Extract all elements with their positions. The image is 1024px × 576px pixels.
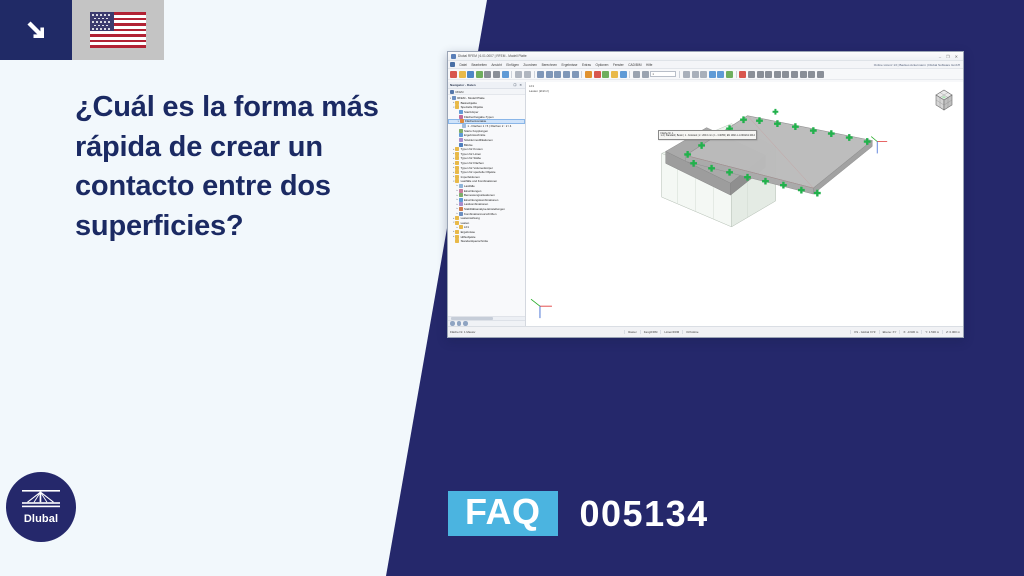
tool-misc-2[interactable] bbox=[692, 71, 699, 78]
tool-render-2[interactable] bbox=[642, 71, 649, 78]
tree-item-icon bbox=[459, 225, 463, 229]
corner-badges bbox=[0, 0, 164, 60]
app-icon bbox=[451, 54, 456, 59]
tree-item-label: Lasteinwirkung bbox=[461, 216, 480, 220]
tool-calc-5[interactable] bbox=[620, 71, 627, 78]
tree-item-icon bbox=[459, 110, 463, 114]
headline-text: ¿Cuál es la forma más rápida de crear un… bbox=[75, 88, 445, 247]
navigator-tree[interactable]: ▾RFEM - Modell Platte▸Basisobjekte▾Spezi… bbox=[448, 95, 525, 316]
menu-item-datei[interactable]: Datei bbox=[460, 63, 467, 67]
menu-item-berechnen[interactable]: Berechnen bbox=[542, 63, 557, 67]
dlubal-logo: Dlubal bbox=[6, 472, 76, 542]
tool-export[interactable] bbox=[502, 71, 509, 78]
tool-view-3[interactable] bbox=[554, 71, 561, 78]
tree-item-icon bbox=[459, 133, 463, 137]
tree-item-label: Spezielle Objekte bbox=[461, 105, 484, 109]
tool-undo[interactable] bbox=[515, 71, 522, 78]
tool-misc-7[interactable] bbox=[739, 71, 746, 78]
tree-item-label: Strukturmodifikationen bbox=[464, 138, 493, 142]
tree-item-label: Hilfsobjekte bbox=[461, 235, 476, 239]
flag-badge bbox=[72, 0, 164, 60]
tree-item-label: Lastkombinationen bbox=[464, 202, 488, 206]
tree-item-icon bbox=[452, 96, 456, 100]
view-cube-icon[interactable] bbox=[931, 87, 957, 113]
tree-item-icon bbox=[462, 124, 466, 128]
tree-item-icon bbox=[455, 170, 459, 174]
menu-item-ansicht[interactable]: Ansicht bbox=[491, 63, 501, 67]
tree-item-icon bbox=[455, 216, 459, 220]
tree-item-icon bbox=[455, 179, 459, 183]
toolbar-separator bbox=[679, 71, 680, 78]
tree-item-icon bbox=[459, 115, 463, 119]
tree-item-icon bbox=[459, 189, 463, 193]
arrow-badge bbox=[0, 0, 72, 60]
tree-item-icon bbox=[455, 101, 459, 105]
tool-misc-5[interactable] bbox=[717, 71, 724, 78]
status-selection-label: Fläche Nr. 1 Massiv bbox=[448, 330, 475, 334]
tree-item-label: Starre Kopplungen bbox=[464, 129, 488, 133]
tree-item-label: Ergebnisschnitte bbox=[464, 133, 485, 137]
tool-open[interactable] bbox=[459, 71, 466, 78]
app-menu-icon[interactable] bbox=[450, 62, 455, 67]
tree-item-label: Basisobjekte bbox=[461, 101, 477, 105]
status-toggle-linien[interactable]: Linien/FRM bbox=[660, 330, 682, 334]
toolbar-separator bbox=[736, 71, 737, 78]
model-viewport[interactable]: LF1 Lasten (kN/m²) bbox=[526, 82, 963, 326]
tool-view-4[interactable] bbox=[563, 71, 570, 78]
tree-item-label: Lasten bbox=[461, 221, 470, 225]
tree-item-icon bbox=[459, 198, 463, 202]
tree-item-label: Lastfälle bbox=[464, 184, 475, 188]
tool-render-1[interactable] bbox=[633, 71, 640, 78]
tab-rfem[interactable]: RFEM bbox=[456, 90, 464, 94]
tool-misc-9[interactable] bbox=[757, 71, 764, 78]
tool-view-2[interactable] bbox=[546, 71, 553, 78]
tree-item-icon bbox=[455, 221, 459, 225]
tree-item-icon bbox=[459, 184, 463, 188]
status-coord-z: Z: 0.000 m bbox=[942, 330, 963, 334]
tree-item-label: Flächenfreigabe-Typen bbox=[464, 115, 494, 119]
tree-item-label: Standardquerschnitte bbox=[461, 239, 488, 243]
tree-item-icon bbox=[455, 175, 459, 179]
tree-item-label: Typen für Knoten bbox=[461, 147, 483, 151]
tree-item-icon bbox=[455, 166, 459, 170]
tree-item-label: Typen für spezielle Objekte bbox=[461, 170, 496, 174]
model-axis-triad bbox=[871, 137, 887, 154]
status-plane: Ebene: XY bbox=[879, 330, 900, 334]
tool-redo[interactable] bbox=[524, 71, 531, 78]
status-toggle-ortho[interactable]: Ortholinie bbox=[682, 330, 701, 334]
tree-item-label: Stabilitätsanalyse-Einstellungen bbox=[464, 207, 505, 211]
license-account-label: Online Lizenz 13 | Backes Ackermann | Dl… bbox=[874, 63, 963, 67]
status-coordinate-system[interactable]: KS - Global XYZ bbox=[850, 330, 878, 334]
status-bar: Fläche Nr. 1 Massiv Raster Fang/FRM Lini… bbox=[448, 326, 963, 337]
tool-new[interactable] bbox=[450, 71, 457, 78]
tree-item-label: Flächenkontakte bbox=[465, 119, 486, 123]
toolbar-separator bbox=[534, 71, 535, 78]
object-tooltip: Fläche Nr. 1 1-4 | Standard | Beton | 1 … bbox=[658, 130, 757, 140]
tree-item-icon bbox=[459, 202, 463, 206]
faq-number: 005134 bbox=[580, 496, 709, 532]
menu-item-bearbeiten[interactable]: Bearbeiten bbox=[471, 63, 486, 67]
work-area: Navigator - Daten ❐ ✕ RFEM ▾RFEM - Model… bbox=[448, 82, 963, 326]
window-title: Dlubal RFEM | 6.01.0007 | RFEM - Modell … bbox=[458, 54, 527, 58]
tool-misc-8[interactable] bbox=[748, 71, 755, 78]
tool-misc-15[interactable] bbox=[808, 71, 815, 78]
tree-item-icon bbox=[459, 143, 463, 147]
tree-item-label: Imperfektionen bbox=[461, 175, 480, 179]
tool-save[interactable] bbox=[467, 71, 474, 78]
navigator-panel[interactable]: Navigator - Daten ❐ ✕ RFEM ▾RFEM - Model… bbox=[448, 82, 526, 326]
status-coord-y: Y: 1.530 m bbox=[921, 330, 942, 334]
tree-item-icon bbox=[459, 138, 463, 142]
tool-misc-4[interactable] bbox=[709, 71, 716, 78]
tree-item-icon bbox=[455, 152, 459, 156]
tree-item-icon bbox=[455, 235, 459, 239]
tool-calc-1[interactable] bbox=[585, 71, 592, 78]
close-button[interactable]: ✕ bbox=[955, 54, 958, 59]
tool-print[interactable] bbox=[484, 71, 491, 78]
tree-item-label: Typen für Flächen bbox=[461, 161, 484, 165]
maximize-button[interactable]: ❐ bbox=[946, 54, 950, 59]
tree-item-label: Einwirkungen bbox=[464, 189, 481, 193]
truss-bridge-icon bbox=[21, 489, 61, 511]
tree-item-label: Typen für Volumenkörper bbox=[461, 166, 493, 170]
loadcase-combo[interactable]: 1 bbox=[650, 71, 676, 77]
window-controls[interactable]: – ❐ ✕ bbox=[939, 54, 960, 59]
tool-misc-3[interactable] bbox=[700, 71, 707, 78]
tree-item-label: Typen für Stäbe bbox=[461, 156, 481, 160]
menu-item-optionen[interactable]: Optionen bbox=[596, 63, 609, 67]
tooltip-body: 1-4 | Standard | Beton | 1 - Konstant | … bbox=[661, 135, 755, 138]
tool-calc-4[interactable] bbox=[611, 71, 618, 78]
menu-item-hilfe[interactable]: Hilfe bbox=[646, 63, 652, 67]
arrow-down-right-icon bbox=[21, 15, 51, 45]
tool-saveas[interactable] bbox=[476, 71, 483, 78]
navigator-title: Navigator - Daten bbox=[450, 83, 476, 87]
tree-item-icon bbox=[455, 161, 459, 165]
faq-footer: FAQ 005134 bbox=[448, 491, 709, 536]
window-titlebar[interactable]: Dlubal RFEM | 6.01.0007 | RFEM - Modell … bbox=[448, 52, 963, 61]
navigator-panel-controls[interactable]: ❐ ✕ bbox=[514, 83, 523, 87]
tool-misc-1[interactable] bbox=[683, 71, 690, 78]
tree-item-label: 1 - Flächen 1 / 5 | Flächen 2 : 2 / 4 bbox=[467, 124, 511, 128]
menu-item-fenster[interactable]: Fenster bbox=[613, 63, 624, 67]
tree-item-label: Kombinationsvorschriften bbox=[464, 212, 496, 216]
tree-item-label: RFEM - Modell Platte bbox=[457, 96, 484, 100]
status-toggle-fang[interactable]: Fang/FRM bbox=[640, 330, 661, 334]
tree-item-label: LF1 bbox=[464, 225, 469, 229]
slide-canvas: ¿Cuál es la forma más rápida de crear un… bbox=[0, 0, 1024, 576]
tree-item-icon bbox=[459, 129, 463, 133]
menu-bar[interactable]: Datei Bearbeiten Ansicht Einfügen Zuordn… bbox=[448, 61, 963, 69]
tool-calc-2[interactable] bbox=[594, 71, 601, 78]
tree-item-label: Blöcke bbox=[464, 143, 473, 147]
tool-view-5[interactable] bbox=[572, 71, 579, 78]
tool-misc-14[interactable] bbox=[800, 71, 807, 78]
tree-item-label: Typen für Linien bbox=[461, 152, 482, 156]
tree-item-icon bbox=[460, 119, 464, 123]
rfem-tab-icon bbox=[450, 90, 454, 94]
model-geometry bbox=[526, 82, 963, 326]
tool-misc-11[interactable] bbox=[774, 71, 781, 78]
tool-misc-10[interactable] bbox=[765, 71, 772, 78]
tree-item-icon bbox=[459, 193, 463, 197]
tool-misc-6[interactable] bbox=[726, 71, 733, 78]
flag-canton bbox=[90, 12, 114, 31]
toolbar-row-1[interactable]: 1 bbox=[448, 69, 963, 80]
tree-item-icon bbox=[455, 230, 459, 234]
tree-item-icon bbox=[459, 207, 463, 211]
status-coord-x: X: -0.930 m bbox=[899, 330, 921, 334]
tool-printpreview[interactable] bbox=[493, 71, 500, 78]
logo-wordmark: Dlubal bbox=[24, 513, 58, 525]
tree-item-icon bbox=[459, 212, 463, 216]
faq-badge: FAQ bbox=[448, 491, 558, 536]
global-axis-triad bbox=[531, 299, 552, 318]
tree-item-label: Lastfälle und Kombinationen bbox=[461, 179, 497, 183]
toolbar-separator bbox=[581, 71, 582, 78]
minimize-button[interactable]: – bbox=[939, 54, 941, 59]
menu-item-zuordnen[interactable]: Zuordnen bbox=[523, 63, 537, 67]
flag-us-icon bbox=[90, 12, 146, 48]
tree-item-label: Einwirkungskombinationen bbox=[464, 198, 498, 202]
tree-item-label: Starrkörper bbox=[464, 110, 478, 114]
tool-view-1[interactable] bbox=[537, 71, 544, 78]
tool-misc-13[interactable] bbox=[791, 71, 798, 78]
navigator-header: Navigator - Daten ❐ ✕ bbox=[448, 82, 525, 89]
tool-misc-12[interactable] bbox=[782, 71, 789, 78]
tool-misc-16[interactable] bbox=[817, 71, 824, 78]
tree-item-label: Ergebnisse bbox=[461, 230, 475, 234]
toolbar-separator bbox=[629, 71, 630, 78]
toolbar-separator bbox=[511, 71, 512, 78]
tree-item-icon bbox=[455, 147, 459, 151]
menu-item-extras[interactable]: Extras bbox=[582, 63, 591, 67]
tree-item-label: Bemessungssituationen bbox=[464, 193, 495, 197]
menu-item-einfuegen[interactable]: Einfügen bbox=[506, 63, 519, 67]
tree-item-icon bbox=[455, 239, 459, 243]
tool-calc-3[interactable] bbox=[602, 71, 609, 78]
status-toggle-raster[interactable]: Raster bbox=[624, 330, 640, 334]
rfem-application-window[interactable]: Dlubal RFEM | 6.01.0007 | RFEM - Modell … bbox=[447, 51, 964, 338]
tree-item[interactable]: Standardquerschnitte bbox=[448, 239, 525, 244]
menu-item-ergebnisse[interactable]: Ergebnisse bbox=[562, 63, 578, 67]
menu-item-cadbim[interactable]: CAD/BIM bbox=[628, 63, 641, 67]
